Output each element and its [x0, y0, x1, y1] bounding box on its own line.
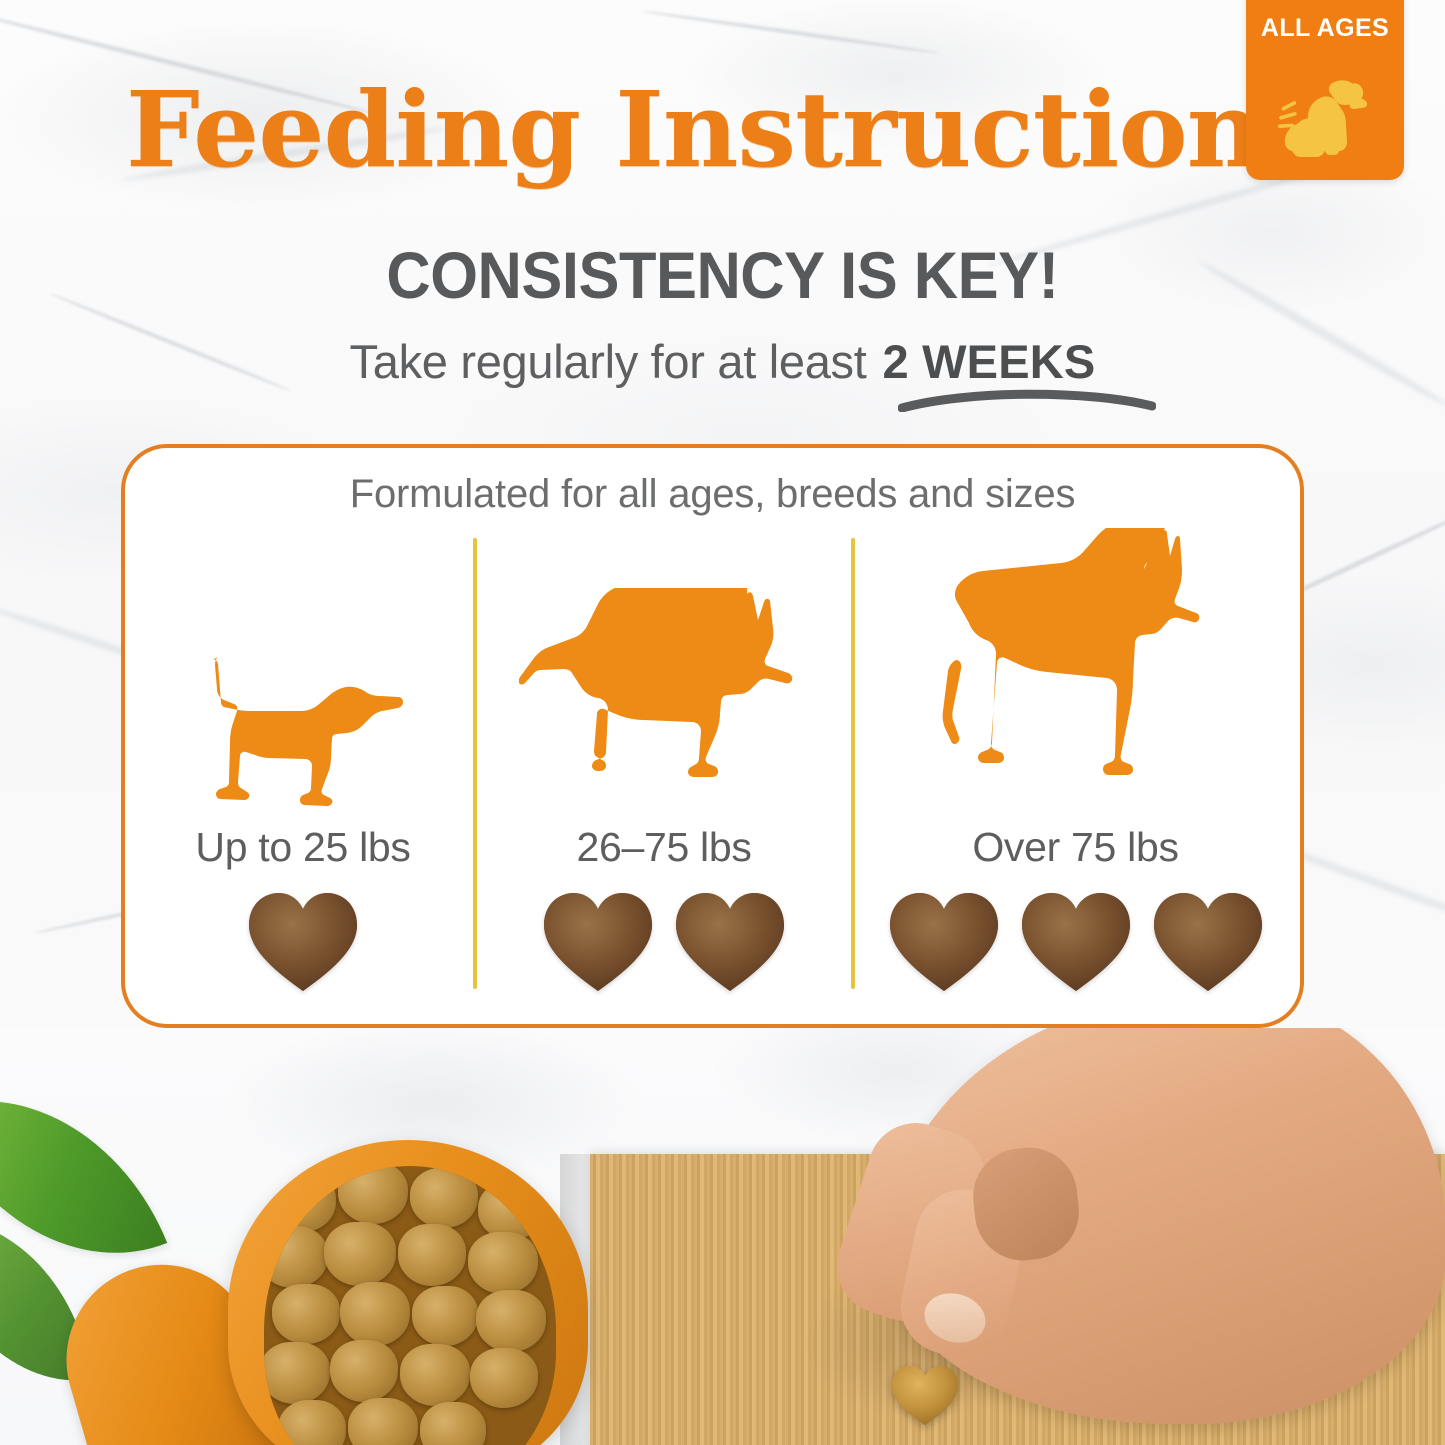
- heart-shaped-treat: [889, 1362, 961, 1428]
- size-column-medium: 26–75 lbs: [477, 520, 851, 1000]
- size-label-small: Up to 25 lbs: [133, 824, 473, 871]
- heart-kibble-icon: [245, 887, 361, 995]
- small-dog-icon: [133, 520, 473, 818]
- heart-kibble-icon: [1150, 887, 1266, 995]
- size-label-medium: 26–75 lbs: [477, 824, 851, 871]
- tagline-row: Take regularly for at least2 WEEKS: [0, 334, 1445, 389]
- size-column-large: Over 75 lbs: [855, 520, 1296, 1000]
- size-column-small: Up to 25 lbs: [133, 520, 473, 1000]
- large-dog-icon: [855, 520, 1296, 818]
- dosage-card: Formulated for all ages, breeds and size…: [121, 444, 1304, 1028]
- heart-kibble-icon: [1018, 887, 1134, 995]
- all-ages-badge: ALL AGES: [1246, 0, 1404, 180]
- medium-dog-icon: [477, 520, 851, 818]
- treat-dose-small: [133, 887, 473, 995]
- jar-kibble-fill: [264, 1166, 556, 1445]
- treat-dose-medium: [477, 887, 851, 995]
- tagline-text: Take regularly for at least: [350, 335, 867, 388]
- page-title: Feeding Instructions: [0, 78, 1445, 182]
- tagline-emphasis: 2 WEEKS: [883, 335, 1096, 388]
- heart-kibble-icon: [672, 887, 788, 995]
- heart-kibble-icon: [540, 887, 656, 995]
- size-label-large: Over 75 lbs: [855, 824, 1296, 871]
- treat-dose-large: [855, 887, 1296, 995]
- sitting-dog-icon: [1273, 60, 1377, 169]
- card-heading: Formulated for all ages, breeds and size…: [125, 472, 1300, 517]
- all-ages-badge-label: ALL AGES: [1246, 14, 1404, 43]
- subtitle: CONSISTENCY IS KEY!: [51, 242, 1395, 308]
- heart-kibble-icon: [886, 887, 1002, 995]
- hand-holding-treat: [886, 1028, 1445, 1424]
- underline-swoosh: [898, 386, 1156, 412]
- product-lifestyle-photo: [0, 1028, 1445, 1445]
- infographic-stage: ALL AGES: [0, 0, 1445, 1445]
